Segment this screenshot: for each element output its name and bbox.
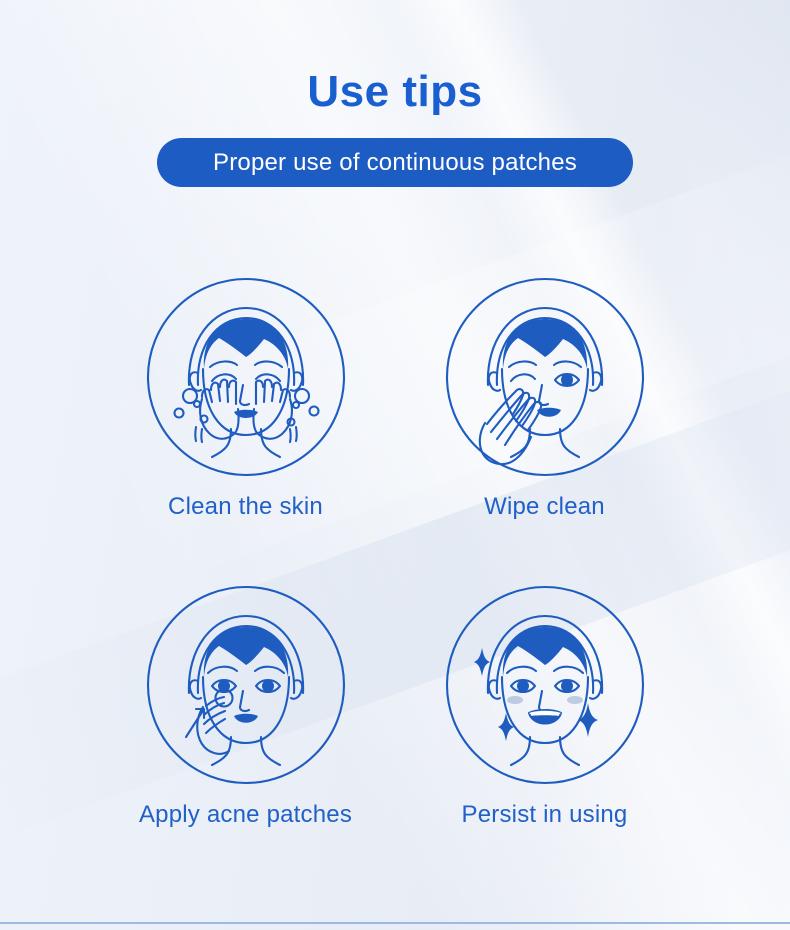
use-tips-poster: Use tips Proper use of continuous patche… [0, 0, 790, 930]
step-apply-acne-patches: Apply acne patches [96, 585, 395, 827]
clear-skin-sparkle-icon [445, 585, 645, 785]
step-label: Clean the skin [168, 495, 323, 519]
step-persist-in-using: Persist in using [395, 585, 694, 827]
step-wipe-clean: Wipe clean [395, 277, 694, 519]
header: Use tips Proper use of continuous patche… [0, 0, 790, 187]
apply-patch-icon [146, 585, 346, 785]
wash-face-icon [146, 277, 346, 477]
step-label: Wipe clean [484, 495, 605, 519]
subtitle-pill: Proper use of continuous patches [157, 138, 633, 187]
bottom-divider [0, 922, 790, 924]
page-title: Use tips [0, 70, 790, 114]
wipe-face-icon [445, 277, 645, 477]
step-clean-the-skin: Clean the skin [96, 277, 395, 519]
steps-grid: Clean the skin [0, 277, 790, 827]
subtitle-pill-wrapper: Proper use of continuous patches [0, 138, 790, 187]
step-label: Persist in using [462, 803, 628, 827]
step-label: Apply acne patches [139, 803, 352, 827]
